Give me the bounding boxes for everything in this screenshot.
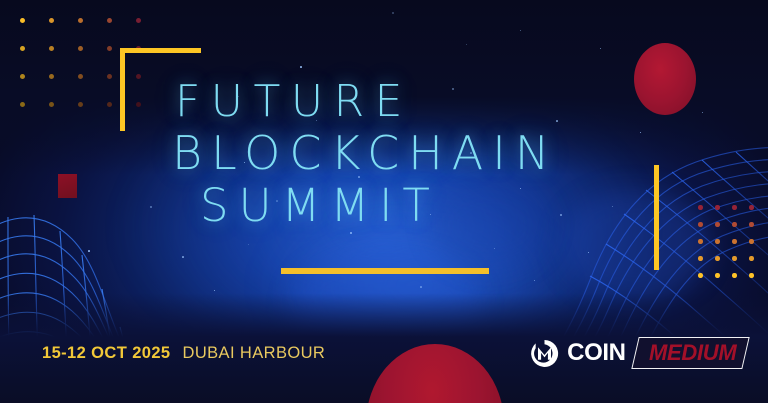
decor-vertical-accent-bar xyxy=(654,165,659,270)
logo-word-coin: COIN xyxy=(567,339,625,367)
event-date: 15-12 OCT 2025 xyxy=(42,344,171,362)
star-speck xyxy=(466,44,467,45)
decor-dot xyxy=(715,239,720,244)
coin-medium-m-icon xyxy=(529,338,560,369)
decor-dot xyxy=(732,205,737,210)
decor-dot xyxy=(49,46,54,51)
decor-dot xyxy=(732,222,737,227)
decor-dot xyxy=(732,239,737,244)
title-underline-rule xyxy=(281,268,489,274)
star-speck xyxy=(640,132,641,133)
star-speck xyxy=(600,48,601,49)
logo-medium-badge: MEDIUM xyxy=(631,337,750,369)
decor-dot xyxy=(715,256,720,261)
decor-dot xyxy=(732,256,737,261)
decor-dot xyxy=(749,222,754,227)
star-speck xyxy=(392,12,394,14)
decor-dot xyxy=(20,18,25,23)
decor-dot xyxy=(698,239,703,244)
star-speck xyxy=(300,66,302,68)
decor-dot xyxy=(698,273,703,278)
star-speck xyxy=(494,248,495,249)
decor-dot xyxy=(749,239,754,244)
event-location: DUBAI HARBOUR xyxy=(183,344,326,362)
decor-dot xyxy=(749,273,754,278)
decor-dot xyxy=(49,74,54,79)
event-title: FUTURE BLOCKCHAIN SUMMIT xyxy=(172,80,602,228)
coin-medium-logo[interactable]: COIN MEDIUM xyxy=(529,337,746,369)
decor-dot xyxy=(698,205,703,210)
decor-dot xyxy=(698,222,703,227)
decor-dot xyxy=(107,18,112,23)
decor-dot xyxy=(715,222,720,227)
decor-dot xyxy=(749,205,754,210)
decor-dot xyxy=(732,273,737,278)
title-line-future: FUTURE xyxy=(175,80,602,123)
title-line-summit: SUMMIT xyxy=(200,184,602,228)
banner-footer: 15-12 OCT 2025 DUBAI HARBOUR COIN MEDIUM xyxy=(0,317,768,403)
decor-dot xyxy=(715,273,720,278)
decor-dot xyxy=(749,256,754,261)
star-speck xyxy=(702,112,703,113)
decor-dot xyxy=(107,102,112,107)
event-details: 15-12 OCT 2025 DUBAI HARBOUR xyxy=(42,344,325,363)
star-speck xyxy=(420,286,422,288)
decor-dot xyxy=(49,18,54,23)
decor-red-circle-top-right xyxy=(634,43,696,115)
decor-red-square-left xyxy=(58,174,77,198)
future-blockchain-summit-banner: FUTURE BLOCKCHAIN SUMMIT 15-12 OCT 2025 … xyxy=(0,0,768,403)
star-speck xyxy=(350,232,352,234)
decor-dot xyxy=(20,74,25,79)
decor-dot xyxy=(107,74,112,79)
decor-dot xyxy=(78,74,83,79)
decor-dot xyxy=(698,256,703,261)
decor-dot xyxy=(107,46,112,51)
decor-dot xyxy=(78,46,83,51)
decor-dot xyxy=(78,102,83,107)
logo-word-medium: MEDIUM xyxy=(649,340,736,366)
dot-grid-right xyxy=(698,205,766,290)
decor-dot xyxy=(715,205,720,210)
decor-dot xyxy=(49,102,54,107)
decor-dot xyxy=(136,18,141,23)
decor-dot xyxy=(78,18,83,23)
star-speck xyxy=(520,30,521,31)
decor-dot xyxy=(20,46,25,51)
title-line-blockchain: BLOCKCHAIN xyxy=(172,131,602,176)
decor-dot xyxy=(20,102,25,107)
